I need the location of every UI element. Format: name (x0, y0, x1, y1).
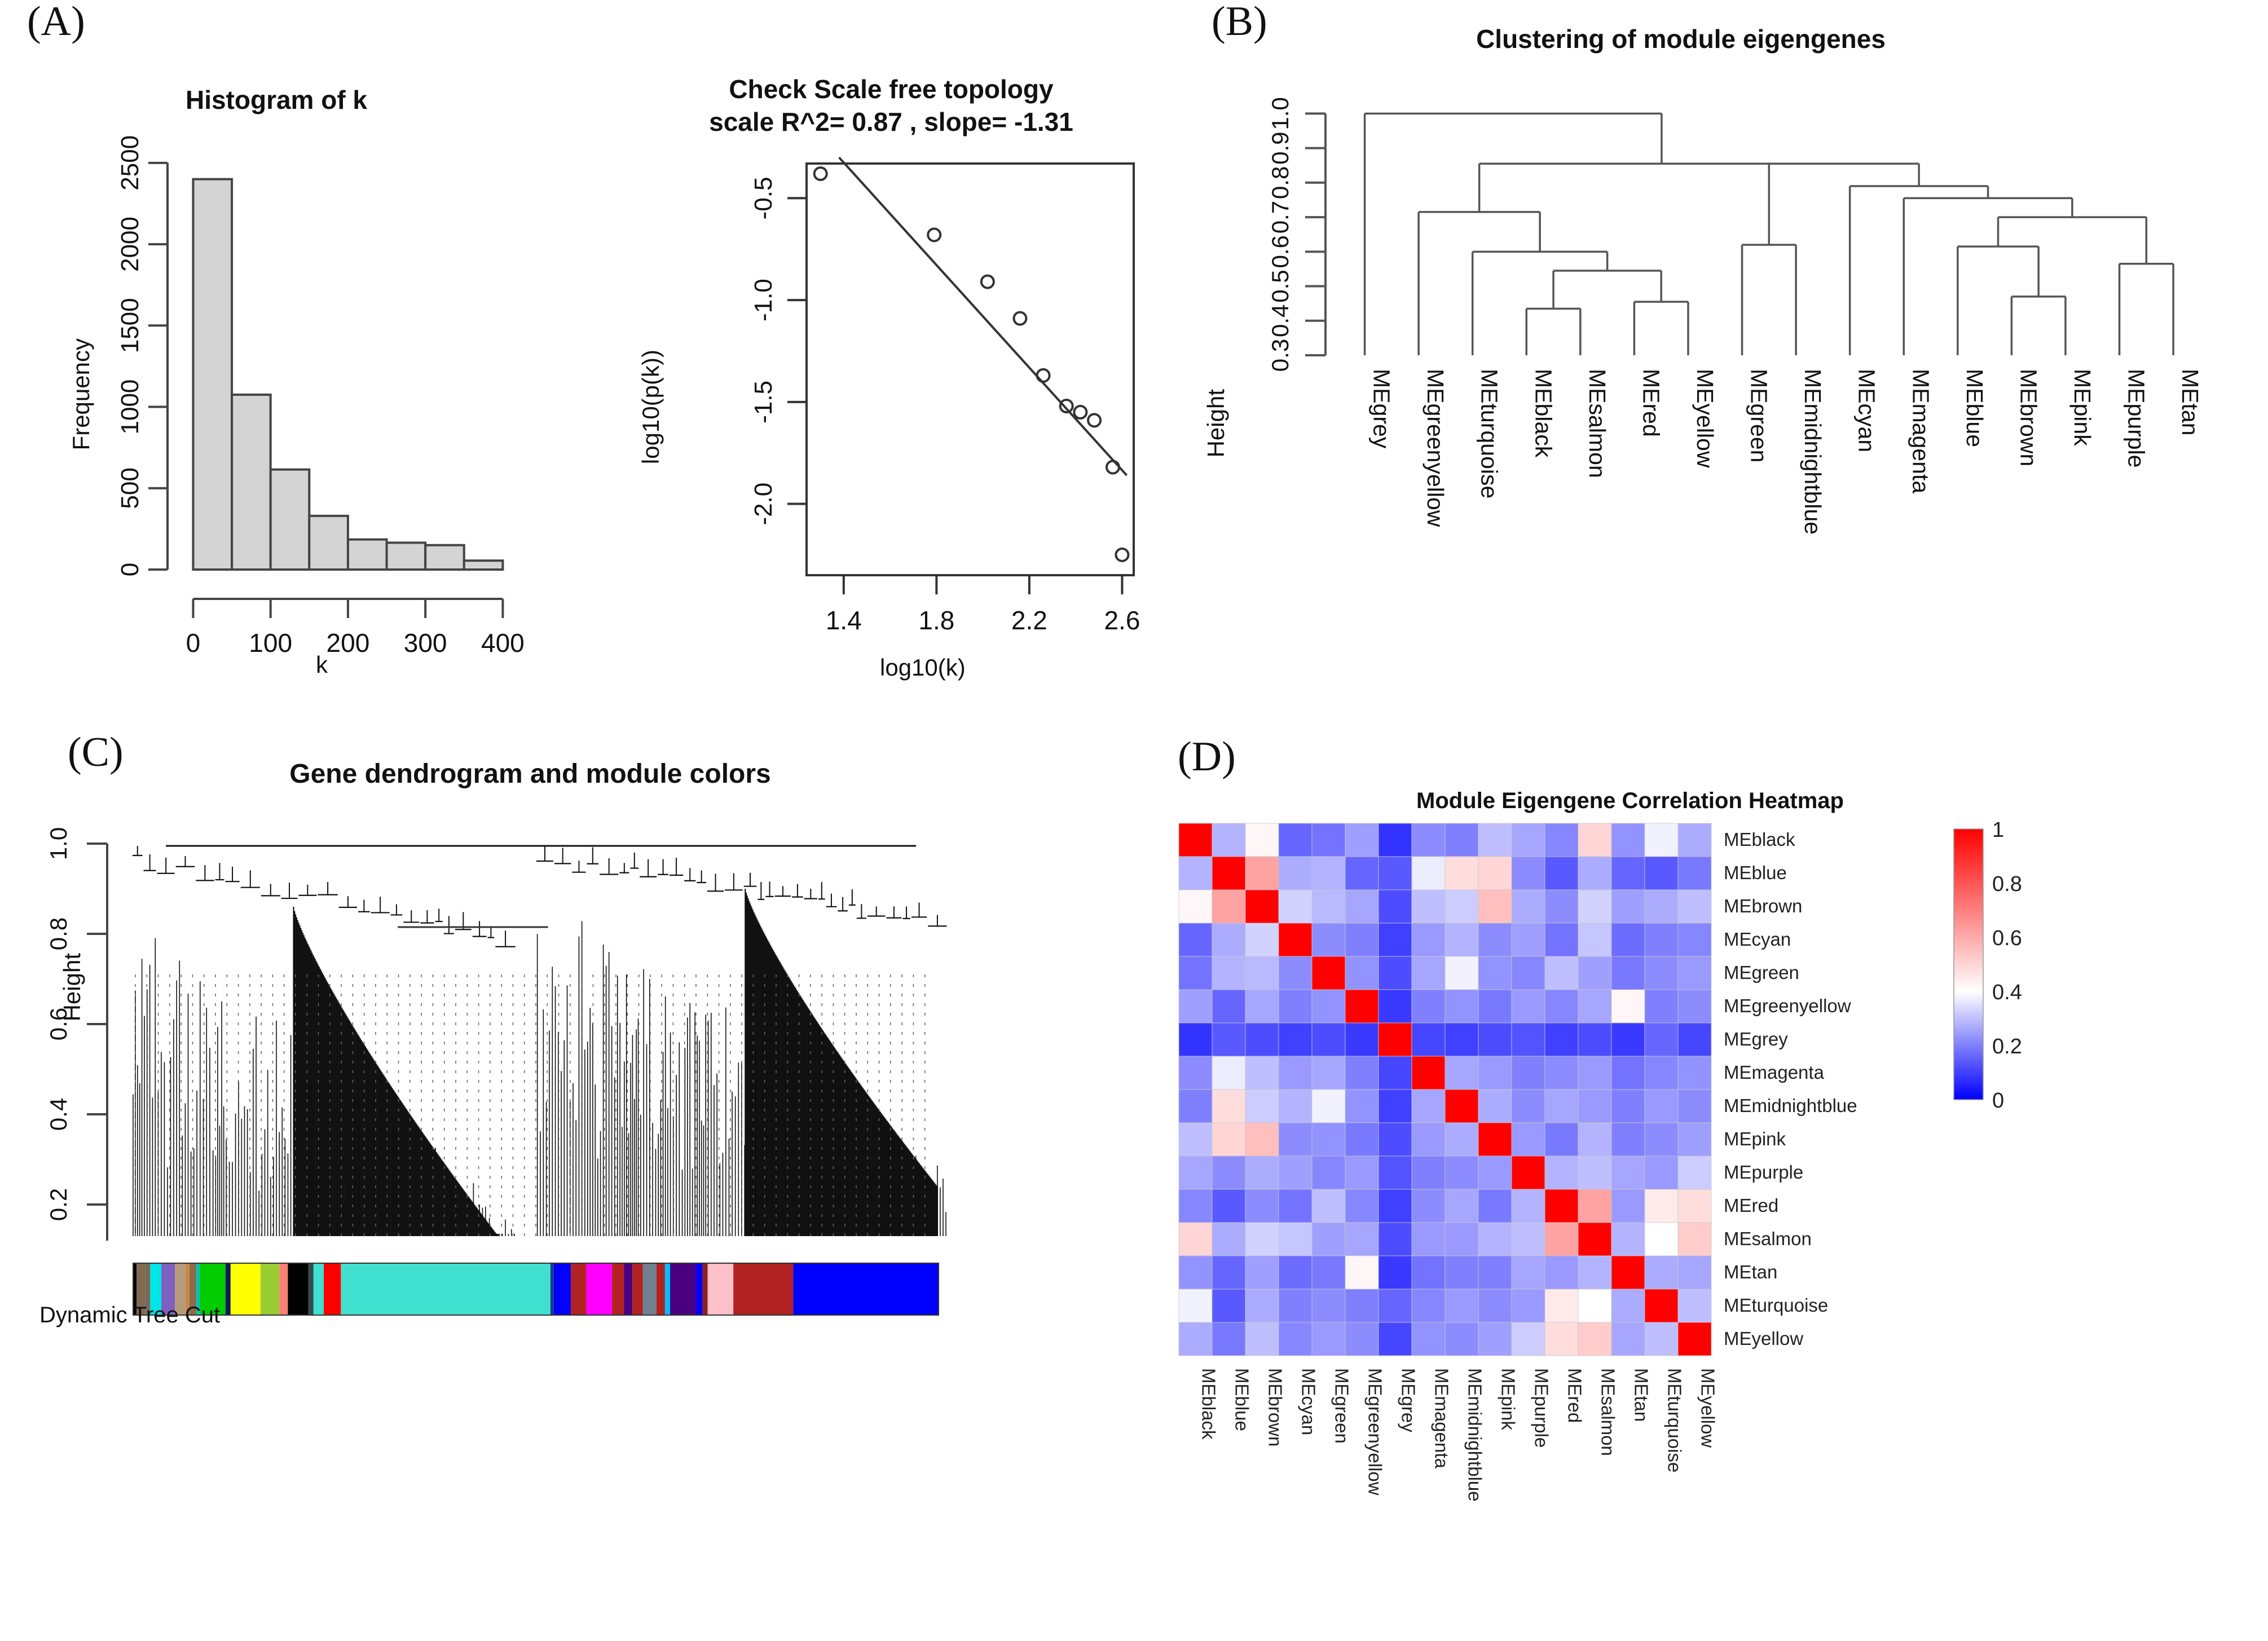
heatmap-cell (1545, 956, 1578, 990)
panel-b-letter: (B) (1212, 0, 1267, 46)
heatmap-cell (1179, 1156, 1212, 1189)
heatmap-cell (1478, 857, 1512, 890)
heatmap-cell (1312, 857, 1345, 890)
gene-dendro-ylabel: Height (59, 953, 86, 1021)
heatmap-cell (1312, 823, 1345, 857)
module-leaf-label: MEgreenyellow (1423, 369, 1448, 527)
heatmap-cell (1345, 990, 1379, 1023)
heatmap-cell (1578, 1156, 1611, 1189)
heatmap-cell (1245, 857, 1279, 890)
heatmap-cell (1279, 890, 1312, 923)
heatmap-cell (1379, 956, 1412, 990)
histogram-plot: 050010001500200025000100200300400 (56, 124, 564, 744)
heatmap-cell (1478, 1023, 1512, 1056)
scalefree-title: Check Scale free topology scale R^2= 0.8… (666, 73, 1117, 138)
heatmap-cell (1445, 857, 1478, 890)
heatmap-cell (1545, 1123, 1578, 1156)
heatmap-cell (1578, 956, 1611, 990)
heatmap-col-label: MEyellow (1697, 1368, 1718, 1448)
heatmap-cell (1279, 1322, 1312, 1356)
svg-text:2500: 2500 (116, 135, 144, 191)
scalefree-title-line2: scale R^2= 0.87 , slope= -1.31 (709, 107, 1073, 136)
heatmap-cell (1678, 823, 1711, 857)
heatmap-cell (1279, 1023, 1312, 1056)
svg-text:0.8: 0.8 (1267, 166, 1293, 199)
heatmap-cell (1312, 990, 1345, 1023)
heatmap-cell (1412, 1289, 1445, 1322)
heatmap-cell (1678, 1089, 1711, 1123)
heatmap-cell (1379, 1322, 1412, 1356)
heatmap-cell (1611, 1322, 1645, 1356)
heatmap-cell (1412, 1189, 1445, 1223)
svg-text:0: 0 (186, 628, 201, 658)
heatmap-cell (1412, 1123, 1445, 1156)
heatmap-cell (1611, 923, 1645, 956)
heatmap-cell (1645, 1223, 1678, 1256)
heatmap-cell (1279, 823, 1312, 857)
heatmap-cell (1678, 1056, 1711, 1089)
heatmap-cell (1312, 890, 1345, 923)
heatmap-cell (1312, 1223, 1345, 1256)
scalefree-plot: -0.5-1.0-1.5-2.01.41.82.22.6 (666, 147, 1173, 711)
svg-text:1.4: 1.4 (826, 606, 862, 635)
heatmap-cell (1445, 1089, 1478, 1123)
heatmap-cell (1478, 1189, 1512, 1223)
scalefree-title-line1: Check Scale free topology (729, 74, 1053, 104)
heatmap-cell (1412, 823, 1445, 857)
heatmap-row-label: MEmidnightblue (1724, 1095, 1857, 1116)
heatmap-cell (1611, 990, 1645, 1023)
svg-text:0.6: 0.6 (1267, 235, 1293, 268)
panel-d-letter: (D) (1178, 733, 1236, 781)
heatmap-col-label: MEblue (1231, 1368, 1252, 1431)
svg-text:0.3: 0.3 (1267, 339, 1293, 372)
heatmap-cell (1312, 1089, 1345, 1123)
heatmap-cell (1379, 857, 1412, 890)
module-leaf-label: MEturquoise (1477, 369, 1503, 499)
heatmap-cell (1678, 990, 1711, 1023)
heatmap-cell (1578, 1023, 1611, 1056)
heatmap-cell (1545, 890, 1578, 923)
heatmap-cell (1312, 1189, 1345, 1223)
heatmap-cell (1445, 1023, 1478, 1056)
heatmap-col-label: MEbrown (1265, 1368, 1285, 1446)
histogram-title: Histogram of k (102, 85, 451, 115)
heatmap-cell (1379, 1223, 1412, 1256)
svg-text:200: 200 (327, 628, 370, 658)
heatmap-cell (1478, 1256, 1512, 1289)
heatmap-cell (1179, 857, 1212, 890)
heatmap-row-label: MEpink (1724, 1128, 1786, 1149)
heatmap-col-label: MEmagenta (1431, 1368, 1452, 1469)
heatmap-cell (1445, 956, 1478, 990)
heatmap-cell (1445, 1223, 1478, 1256)
gene-dendro-title: Gene dendrogram and module colors (186, 758, 874, 789)
heatmap-row-label: MEmagenta (1724, 1062, 1825, 1083)
heatmap-cell (1212, 1223, 1245, 1256)
heatmap-cell (1645, 857, 1678, 890)
heatmap-row-label: MEyellow (1724, 1328, 1803, 1349)
heatmap-col-label: MEpurple (1531, 1368, 1552, 1448)
heatmap-cell (1445, 1056, 1478, 1089)
panel-c-letter: (C) (68, 729, 124, 777)
heatmap-cell (1578, 1256, 1611, 1289)
heatmap-cell (1212, 923, 1245, 956)
heatmap-cell (1645, 1256, 1678, 1289)
heatmap-cell (1611, 1123, 1645, 1156)
svg-text:-0.5: -0.5 (750, 177, 777, 220)
heatmap-col-label: MEred (1564, 1368, 1585, 1423)
heatmap-cell (1645, 1289, 1678, 1322)
svg-text:1.0: 1.0 (45, 827, 72, 860)
heatmap-cell (1545, 857, 1578, 890)
heatmap-cell (1412, 857, 1445, 890)
heatmap-cell (1212, 823, 1245, 857)
heatmap-cell (1578, 857, 1611, 890)
heatmap-cell (1445, 990, 1478, 1023)
heatmap-col-label: MEpink (1498, 1368, 1518, 1431)
heatmap-cell (1212, 857, 1245, 890)
heatmap-cell (1678, 956, 1711, 990)
svg-text:1.0: 1.0 (1267, 97, 1293, 130)
heatmap-cell (1611, 1189, 1645, 1223)
svg-text:400: 400 (481, 628, 525, 658)
heatmap-cell (1678, 1223, 1711, 1256)
heatmap-cell (1645, 1322, 1678, 1356)
svg-text:2000: 2000 (116, 217, 144, 272)
heatmap-cell (1345, 1023, 1379, 1056)
histogram-ylabel: Frequency (68, 338, 95, 450)
module-leaf-label: MEgreen (1746, 369, 1772, 462)
heatmap-cell (1212, 1156, 1245, 1189)
heatmap-cell (1545, 1056, 1578, 1089)
heatmap-row-label: MEcyan (1724, 929, 1791, 950)
heatmap-cell (1445, 823, 1478, 857)
heatmap-cell (1545, 1156, 1578, 1189)
heatmap-cell (1478, 890, 1512, 923)
heatmap-cell (1245, 1223, 1279, 1256)
heatmap-cell (1578, 890, 1611, 923)
heatmap-row-label: MEred (1724, 1195, 1778, 1216)
panel-a-letter: (A) (27, 0, 85, 46)
heatmap-cell (1179, 990, 1212, 1023)
svg-text:1.8: 1.8 (918, 606, 954, 635)
heatmap-cell (1512, 890, 1545, 923)
heatmap-cell (1379, 1156, 1412, 1189)
heatmap-cell (1478, 1123, 1512, 1156)
svg-text:2.6: 2.6 (1104, 606, 1140, 635)
heatmap-col-label: MEtan (1631, 1368, 1652, 1422)
heatmap-cell (1412, 1256, 1445, 1289)
heatmap-cell (1512, 1223, 1545, 1256)
heatmap-cell (1512, 990, 1545, 1023)
svg-text:0.4: 0.4 (45, 1098, 72, 1131)
heatmap-col-label: MEturquoise (1664, 1368, 1685, 1472)
heatmap-cell (1578, 990, 1611, 1023)
heatmap-cell (1445, 1289, 1478, 1322)
heatmap-cell (1611, 1289, 1645, 1322)
heatmap-cell (1245, 1123, 1279, 1156)
heatmap-row-label: MEsalmon (1724, 1228, 1812, 1249)
module-dendrogram-plot: 1.00.90.80.70.60.50.40.3MEgreyMEgreenyel… (1230, 85, 2245, 733)
heatmap-cell (1245, 923, 1279, 956)
heatmap-row-label: MEgreen (1724, 962, 1799, 983)
heatmap-cell (1578, 1289, 1611, 1322)
heatmap-cell (1212, 1089, 1245, 1123)
heatmap-cell (1179, 890, 1212, 923)
heatmap-cell (1445, 923, 1478, 956)
heatmap-cell (1179, 1123, 1212, 1156)
heatmap-cell (1678, 1322, 1711, 1356)
heatmap-cell (1611, 1256, 1645, 1289)
heatmap-cell (1678, 1123, 1711, 1156)
heatmap-cell (1512, 923, 1545, 956)
svg-text:2.2: 2.2 (1011, 606, 1047, 635)
heatmap-cell (1478, 1322, 1512, 1356)
svg-text:-1.0: -1.0 (750, 279, 777, 321)
scalefree-ylabel: log10(p(k)) (637, 350, 664, 464)
heatmap-colorbar (1954, 829, 1983, 1100)
heatmap-cell (1512, 857, 1545, 890)
module-leaf-label: MEmidnightblue (1800, 369, 1826, 535)
heatmap-cell (1445, 1123, 1478, 1156)
heatmap-cell (1179, 1256, 1212, 1289)
svg-text:1000: 1000 (116, 380, 144, 435)
heatmap-cell (1545, 1289, 1578, 1322)
svg-text:0.9: 0.9 (1267, 131, 1293, 164)
svg-text:1500: 1500 (116, 298, 144, 353)
heatmap-cell (1578, 1189, 1611, 1223)
heatmap-cell (1179, 823, 1212, 857)
heatmap-cell (1478, 923, 1512, 956)
svg-text:-2.0: -2.0 (750, 483, 777, 526)
heatmap-cell (1645, 1189, 1678, 1223)
svg-text:-1.5: -1.5 (750, 381, 777, 424)
heatmap-cell (1212, 1123, 1245, 1156)
heatmap-cell (1445, 1256, 1478, 1289)
heatmap-cell (1179, 1056, 1212, 1089)
heatmap-cell (1412, 1023, 1445, 1056)
heatmap-cell (1611, 1156, 1645, 1189)
heatmap-cell (1412, 1056, 1445, 1089)
heatmap-cell (1512, 1289, 1545, 1322)
module-leaf-label: MEbrown (2015, 369, 2041, 466)
heatmap-cell (1412, 923, 1445, 956)
heatmap-col-label: MEgreen (1331, 1368, 1352, 1444)
histogram-xlabel: k (316, 651, 328, 678)
heatmap-cell (1478, 823, 1512, 857)
heatmap-cell (1512, 1023, 1545, 1056)
heatmap-title: Module Eigengene Correlation Heatmap (1292, 788, 1968, 814)
heatmap-row-label: MEblue (1724, 862, 1787, 883)
svg-text:0.8: 0.8 (1992, 872, 2022, 896)
svg-text:300: 300 (404, 628, 447, 658)
scalefree-xlabel: log10(k) (880, 654, 966, 681)
svg-text:0.4: 0.4 (1267, 305, 1293, 337)
heatmap-cell (1212, 1189, 1245, 1223)
heatmap-cell (1678, 857, 1711, 890)
heatmap-cell (1512, 1156, 1545, 1189)
heatmap-cell (1445, 1322, 1478, 1356)
module-dendro-title: Clustering of module eigengenes (1309, 24, 2053, 54)
heatmap-cell (1312, 923, 1345, 956)
heatmap-cell (1412, 1322, 1445, 1356)
heatmap-cell (1212, 1322, 1245, 1356)
module-leaf-label: MEsalmon (1584, 369, 1610, 478)
heatmap-col-label: MEmidnightblue (1464, 1368, 1485, 1502)
heatmap-cell (1312, 1123, 1345, 1156)
heatmap-cell (1545, 1322, 1578, 1356)
heatmap-cell (1678, 1189, 1711, 1223)
heatmap-col-label: MEsalmon (1597, 1368, 1618, 1456)
heatmap-cell (1312, 956, 1345, 990)
heatmap-cell (1645, 1023, 1678, 1056)
heatmap-cell (1678, 1156, 1711, 1189)
heatmap-cell (1279, 1123, 1312, 1156)
heatmap-cell (1345, 1056, 1379, 1089)
svg-text:500: 500 (116, 467, 144, 509)
heatmap-cell (1611, 1023, 1645, 1056)
heatmap-row-label: MEbrown (1724, 896, 1802, 916)
heatmap-cell (1545, 990, 1578, 1023)
heatmap-col-label: MEgreenyellow (1364, 1368, 1385, 1496)
heatmap-cell (1179, 1322, 1212, 1356)
module-leaf-label: MEblack (1530, 369, 1556, 458)
heatmap-row-label: MEpurple (1724, 1162, 1803, 1183)
heatmap-row-label: MEgreenyellow (1724, 995, 1851, 1016)
heatmap-cell (1611, 823, 1645, 857)
heatmap-cell (1245, 1056, 1279, 1089)
heatmap-cell (1245, 1289, 1279, 1322)
module-dendro-ylabel: Height (1203, 389, 1230, 457)
heatmap-cell (1412, 956, 1445, 990)
heatmap-cell (1478, 1289, 1512, 1322)
svg-text:0.2: 0.2 (1992, 1035, 2022, 1058)
heatmap-cell (1279, 923, 1312, 956)
heatmap-cell (1245, 890, 1279, 923)
heatmap-cell (1578, 823, 1611, 857)
heatmap-cell (1212, 890, 1245, 923)
heatmap-cell (1545, 1023, 1578, 1056)
heatmap-cell (1245, 823, 1279, 857)
heatmap-cell (1678, 1256, 1711, 1289)
heatmap-row-label: MEtan (1724, 1261, 1777, 1282)
heatmap-col-label: MEblack (1198, 1368, 1219, 1440)
heatmap-cell (1345, 823, 1379, 857)
heatmap-cell (1545, 923, 1578, 956)
heatmap-cell (1412, 890, 1445, 923)
heatmap-cell (1645, 823, 1678, 857)
heatmap-cell (1212, 1023, 1245, 1056)
heatmap-cell (1312, 1322, 1345, 1356)
module-leaf-label: MEblue (1962, 369, 1988, 447)
heatmap-cell (1611, 890, 1645, 923)
heatmap-cell (1179, 1023, 1212, 1056)
heatmap-cell (1645, 1123, 1678, 1156)
svg-text:100: 100 (249, 628, 292, 658)
svg-text:0.4: 0.4 (1992, 981, 2022, 1004)
heatmap-cell (1312, 1156, 1345, 1189)
heatmap-cell (1212, 1256, 1245, 1289)
heatmap-cell (1611, 1056, 1645, 1089)
module-leaf-label: MEgrey (1369, 369, 1395, 449)
svg-text:0: 0 (1992, 1089, 2004, 1113)
heatmap-cell (1245, 1256, 1279, 1289)
heatmap-cell (1279, 1056, 1312, 1089)
heatmap-col-label: MEcyan (1298, 1368, 1319, 1435)
heatmap-cell (1245, 1189, 1279, 1223)
heatmap-cell (1379, 990, 1412, 1023)
heatmap-cell (1445, 1156, 1478, 1189)
heatmap-cell (1245, 990, 1279, 1023)
heatmap-cell (1379, 1056, 1412, 1089)
heatmap-cell (1445, 1189, 1478, 1223)
heatmap-cell (1545, 1256, 1578, 1289)
heatmap-cell (1245, 1023, 1279, 1056)
heatmap-cell (1279, 1256, 1312, 1289)
heatmap-cell (1645, 1056, 1678, 1089)
heatmap-cell (1545, 1223, 1578, 1256)
heatmap-plot: MEblackMEblueMEbrownMEcyanMEgreenMEgreen… (1173, 818, 2268, 1641)
heatmap-cell (1445, 890, 1478, 923)
heatmap-cell (1179, 1289, 1212, 1322)
heatmap-cell (1345, 956, 1379, 990)
heatmap-cell (1678, 1289, 1711, 1322)
heatmap-cell (1312, 1056, 1345, 1089)
heatmap-cell (1611, 857, 1645, 890)
heatmap-cell (1379, 1023, 1412, 1056)
heatmap-cell (1212, 956, 1245, 990)
heatmap-cell (1379, 1289, 1412, 1322)
heatmap-cell (1512, 1256, 1545, 1289)
heatmap-cell (1179, 1223, 1212, 1256)
module-leaf-label: MEpink (2069, 369, 2095, 446)
heatmap-cell (1611, 956, 1645, 990)
svg-text:0.7: 0.7 (1267, 201, 1293, 233)
heatmap-cell (1678, 890, 1711, 923)
heatmap-cell (1345, 923, 1379, 956)
heatmap-cell (1578, 1089, 1611, 1123)
heatmap-cell (1279, 990, 1312, 1023)
heatmap-cell (1279, 1289, 1312, 1322)
heatmap-cell (1179, 956, 1212, 990)
heatmap-cell (1212, 990, 1245, 1023)
heatmap-cell (1279, 857, 1312, 890)
heatmap-cell (1345, 1089, 1379, 1123)
heatmap-cell (1379, 923, 1412, 956)
module-leaf-label: MEmagenta (1908, 369, 1934, 493)
heatmap-cell (1345, 1189, 1379, 1223)
heatmap-cell (1645, 956, 1678, 990)
heatmap-cell (1379, 890, 1412, 923)
heatmap-cell (1512, 1123, 1545, 1156)
heatmap-cell (1345, 1256, 1379, 1289)
heatmap-cell (1279, 1189, 1312, 1223)
heatmap-cell (1545, 1189, 1578, 1223)
heatmap-col-label: MEgrey (1398, 1368, 1419, 1432)
heatmap-cell (1345, 1289, 1379, 1322)
heatmap-cell (1345, 1322, 1379, 1356)
heatmap-cell (1578, 1322, 1611, 1356)
heatmap-cell (1578, 1123, 1611, 1156)
heatmap-cell (1379, 1189, 1412, 1223)
heatmap-cell (1345, 890, 1379, 923)
heatmap-cell (1279, 956, 1312, 990)
heatmap-cell (1678, 1023, 1711, 1056)
heatmap-cell (1245, 1322, 1279, 1356)
module-leaf-label: MEcyan (1854, 369, 1880, 452)
dynamic-tree-cut-label: Dynamic Tree Cut (39, 1303, 220, 1328)
